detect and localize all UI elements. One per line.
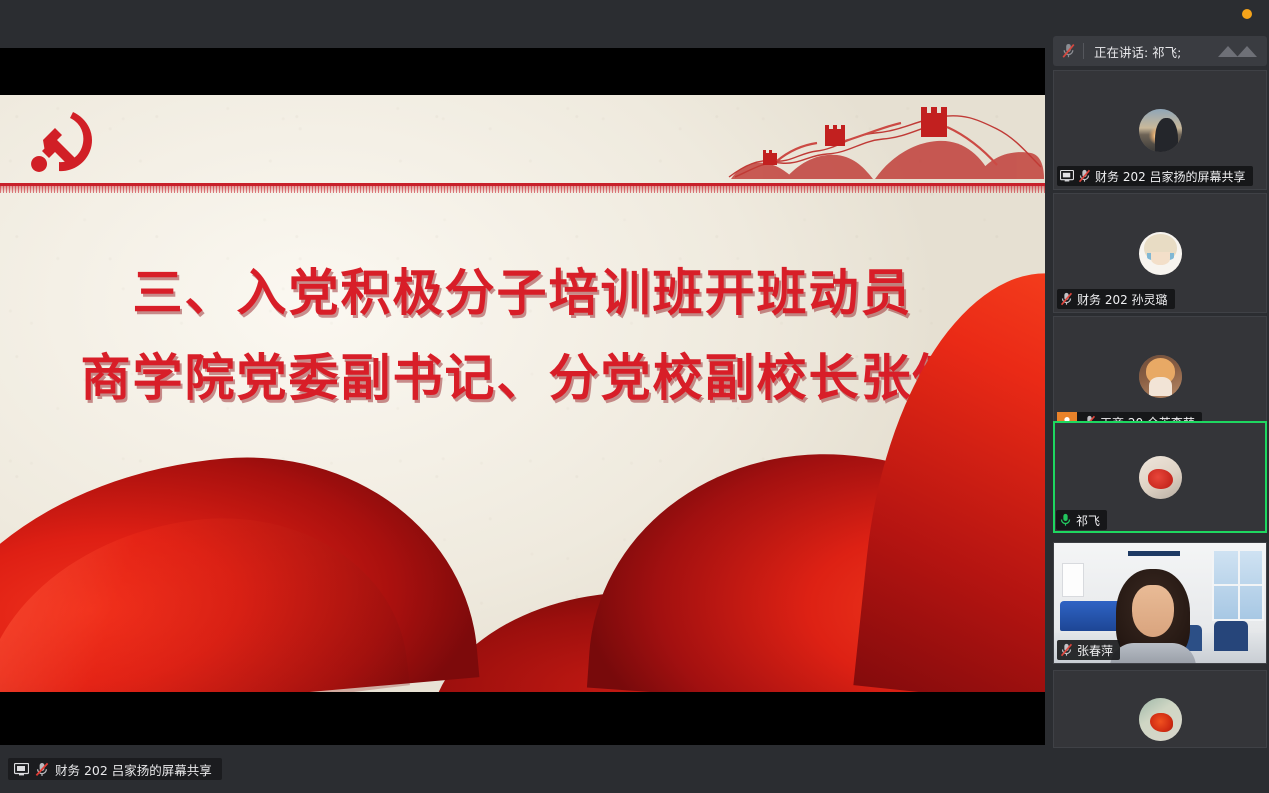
letterbox-bottom — [0, 692, 1045, 745]
screen-share-icon — [14, 763, 29, 776]
participant-badge: 张春萍 — [1057, 640, 1120, 660]
anime-girl-avatar — [1139, 355, 1182, 398]
participant-name: 张春萍 — [1077, 642, 1113, 659]
share-status-badge: 财务 202 吕家扬的屏幕共享 — [8, 758, 222, 780]
participant-tile[interactable]: 财务 202 孙灵璐 — [1053, 193, 1267, 313]
active-speaker-bar[interactable]: 正在讲话: 祁飞; — [1053, 36, 1267, 66]
screen-share-icon — [1060, 170, 1074, 182]
food-photo-avatar — [1139, 456, 1182, 499]
great-wall-icon — [725, 101, 1045, 181]
slide-title-line-2: 商学院党委副书记、分党校副校长张倩 — [0, 348, 1045, 409]
participant-name: 财务 202 孙灵璐 — [1077, 291, 1168, 308]
share-status-label: 财务 202 吕家扬的屏幕共享 — [55, 760, 212, 779]
participant-tile[interactable]: 工商 20 全英李萌 — [1053, 316, 1267, 436]
participant-badge: 财务 202 孙灵璐 — [1057, 289, 1175, 309]
participants-panel[interactable]: 正在讲话: 祁飞; — [1045, 0, 1269, 793]
sunset-photo-avatar — [1139, 109, 1182, 152]
shared-screen-viewport[interactable]: 三、入党积极分子培训班开班动员 商学院党委副书记、分党校副校长张倩 — [0, 0, 1045, 793]
microphone-muted-icon — [1060, 292, 1073, 306]
microphone-muted-icon — [35, 762, 49, 777]
microphone-muted-icon — [1053, 43, 1083, 59]
microphone-active-icon — [1059, 513, 1072, 527]
participant-badge: 财务 202 吕家扬的屏幕共享 — [1057, 166, 1253, 186]
orange-status-dot-icon[interactable] — [1242, 9, 1252, 19]
avatar — [1139, 109, 1182, 152]
avatar — [1139, 232, 1182, 275]
slide-title-line-1: 三、入党积极分子培训班开班动员 — [0, 263, 1045, 324]
participant-tile[interactable] — [1053, 670, 1267, 748]
participant-name: 财务 202 吕家扬的屏幕共享 — [1095, 168, 1246, 185]
anime-girl-avatar — [1139, 232, 1182, 275]
autumn-leaves-avatar — [1139, 698, 1182, 741]
avatar — [1139, 456, 1182, 499]
avatar — [1139, 698, 1182, 741]
hammer-and-sickle-icon — [26, 109, 104, 181]
microphone-muted-icon — [1060, 643, 1073, 657]
active-speaker-label: 正在讲话: 祁飞; — [1084, 42, 1209, 61]
microphone-muted-icon — [1078, 169, 1091, 183]
double-chevron-icon[interactable] — [1209, 41, 1267, 61]
header-divider-hatch — [0, 186, 1045, 193]
share-status-bar: 财务 202 吕家扬的屏幕共享 — [0, 745, 1045, 793]
avatar — [1139, 355, 1182, 398]
participant-name: 祁飞 — [1076, 512, 1100, 529]
participant-tile[interactable]: 财务 202 吕家扬的屏幕共享 — [1053, 70, 1267, 190]
letterbox-top — [0, 48, 1045, 95]
participant-tile[interactable]: 张春萍 — [1053, 542, 1267, 664]
participant-badge: 祁飞 — [1056, 510, 1107, 530]
slide-title-block: 三、入党积极分子培训班开班动员 商学院党委副书记、分党校副校长张倩 — [0, 263, 1045, 409]
slide-header — [0, 95, 1045, 190]
meeting-window: 三、入党积极分子培训班开班动员 商学院党委副书记、分党校副校长张倩 — [0, 0, 1269, 793]
presentation-slide: 三、入党积极分子培训班开班动员 商学院党委副书记、分党校副校长张倩 — [0, 95, 1045, 692]
participant-tile[interactable]: 祁飞 — [1053, 421, 1267, 533]
